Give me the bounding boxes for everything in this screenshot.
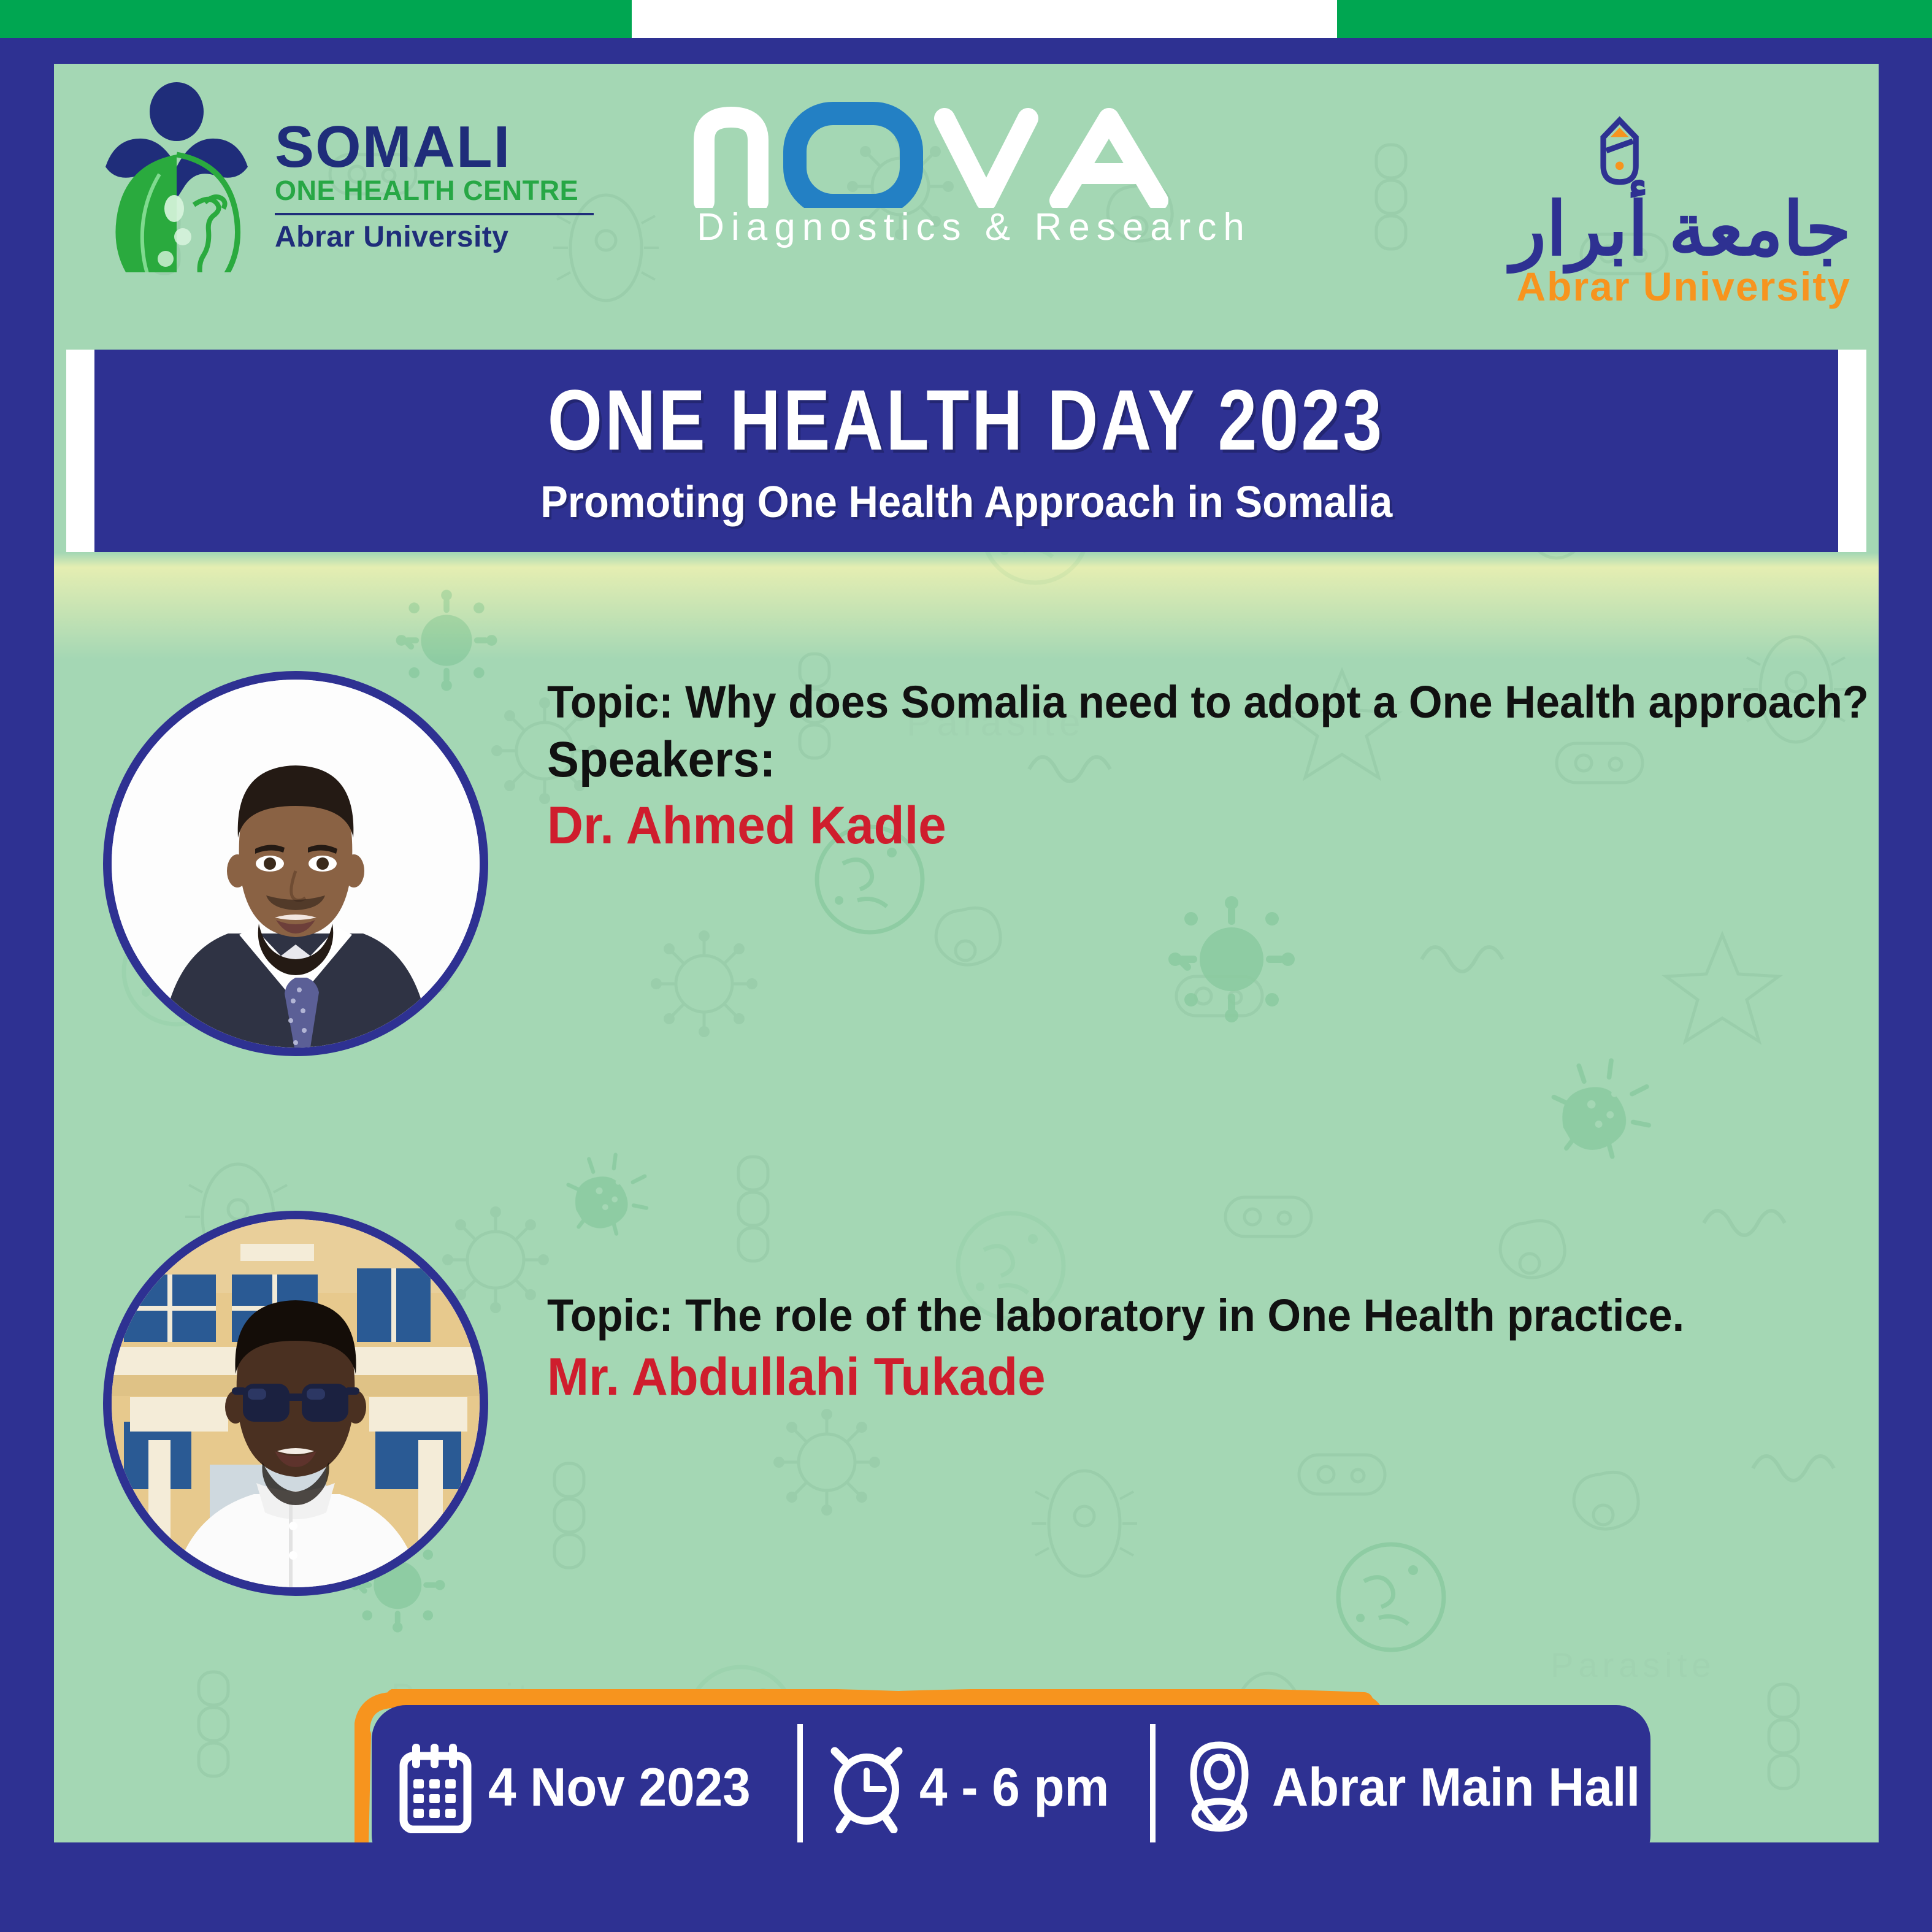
speaker-block-1: Topic: Why does Somalia need to adopt a … [103, 671, 1879, 1056]
alarm-clock-icon [830, 1741, 903, 1833]
abrar-minaret-icon [1563, 76, 1716, 199]
calendar-icon [399, 1741, 472, 1833]
banner-inner: ONE HEALTH DAY 2023 Promoting One Health… [94, 350, 1838, 552]
speaker-1-topic: Topic: Why does Somalia need to adopt a … [547, 677, 1869, 728]
speaker-2-text: Topic: The role of the laboratory in One… [547, 1211, 1744, 1408]
somali-one-health-centre-logo: SOMALI ONE HEALTH CENTRE Abrar Universit… [85, 82, 600, 285]
speaker-2-name: Mr. Abdullahi Tukade [547, 1346, 1684, 1408]
speaker-1-text: Topic: Why does Somalia need to adopt a … [547, 671, 1879, 857]
poster-subtitle: Promoting One Health Approach in Somalia [540, 480, 1392, 524]
nova-tagline: Diagnostics & Research [667, 205, 1281, 249]
nova-wordmark-icon [667, 98, 1281, 208]
speaker-1-name: Dr. Ahmed Kadle [547, 795, 1869, 857]
sohc-divider [275, 213, 594, 215]
speaker-2-topic: Topic: The role of the laboratory in One… [547, 1290, 1684, 1341]
event-date: 4 Nov 2023 [488, 1756, 751, 1819]
event-poster: Parasite Parasite Parasite [0, 0, 1932, 1932]
sohc-line2: ONE HEALTH CENTRE [275, 175, 594, 207]
sohc-line3: Abrar University [275, 220, 594, 254]
abrar-arabic-name: جامعة أبرار [1360, 193, 1851, 266]
leaf-globe-person-icon [85, 82, 269, 272]
poster-header: SOMALI ONE HEALTH CENTRE Abrar Universit… [54, 64, 1879, 346]
info-cell-time: 4 - 6 pm [803, 1705, 1151, 1842]
event-info-bar: 4 Nov 2023 [355, 1689, 1704, 1842]
title-banner: ONE HEALTH DAY 2023 Promoting One Health… [54, 350, 1879, 552]
speakers-label: Speakers: [547, 730, 1869, 790]
poster-body: Parasite Parasite Parasite [54, 64, 1879, 1842]
event-venue: Abrar Main Hall [1272, 1756, 1640, 1819]
location-pin-icon [1183, 1741, 1256, 1833]
svg-text:Parasite: Parasite [1551, 1646, 1715, 1684]
poster-title: ONE HEALTH DAY 2023 [548, 377, 1385, 463]
banner-right-white-strip [1838, 350, 1866, 552]
abrar-university-logo: جامعة أبرار Abrar University [1360, 76, 1857, 303]
info-divider-1 [797, 1724, 803, 1842]
info-bar-panel: 4 Nov 2023 [372, 1705, 1650, 1842]
banner-left-white-strip [66, 350, 94, 552]
info-cell-venue: Abrar Main Hall [1156, 1705, 1695, 1842]
top-white-strip [632, 0, 1337, 38]
info-cell-date: 4 Nov 2023 [372, 1705, 797, 1842]
nova-logo: Diagnostics & Research [667, 98, 1281, 282]
portrait-abdullahi-tukade [103, 1211, 488, 1596]
abrar-english-name: Abrar University [1360, 266, 1851, 307]
portrait-ahmed-kadle [103, 671, 488, 1056]
speaker-block-2: Topic: The role of the laboratory in One… [103, 1211, 1744, 1596]
sohc-line1: SOMALI [275, 119, 594, 175]
event-time: 4 - 6 pm [919, 1756, 1109, 1819]
info-divider-2 [1150, 1724, 1156, 1842]
